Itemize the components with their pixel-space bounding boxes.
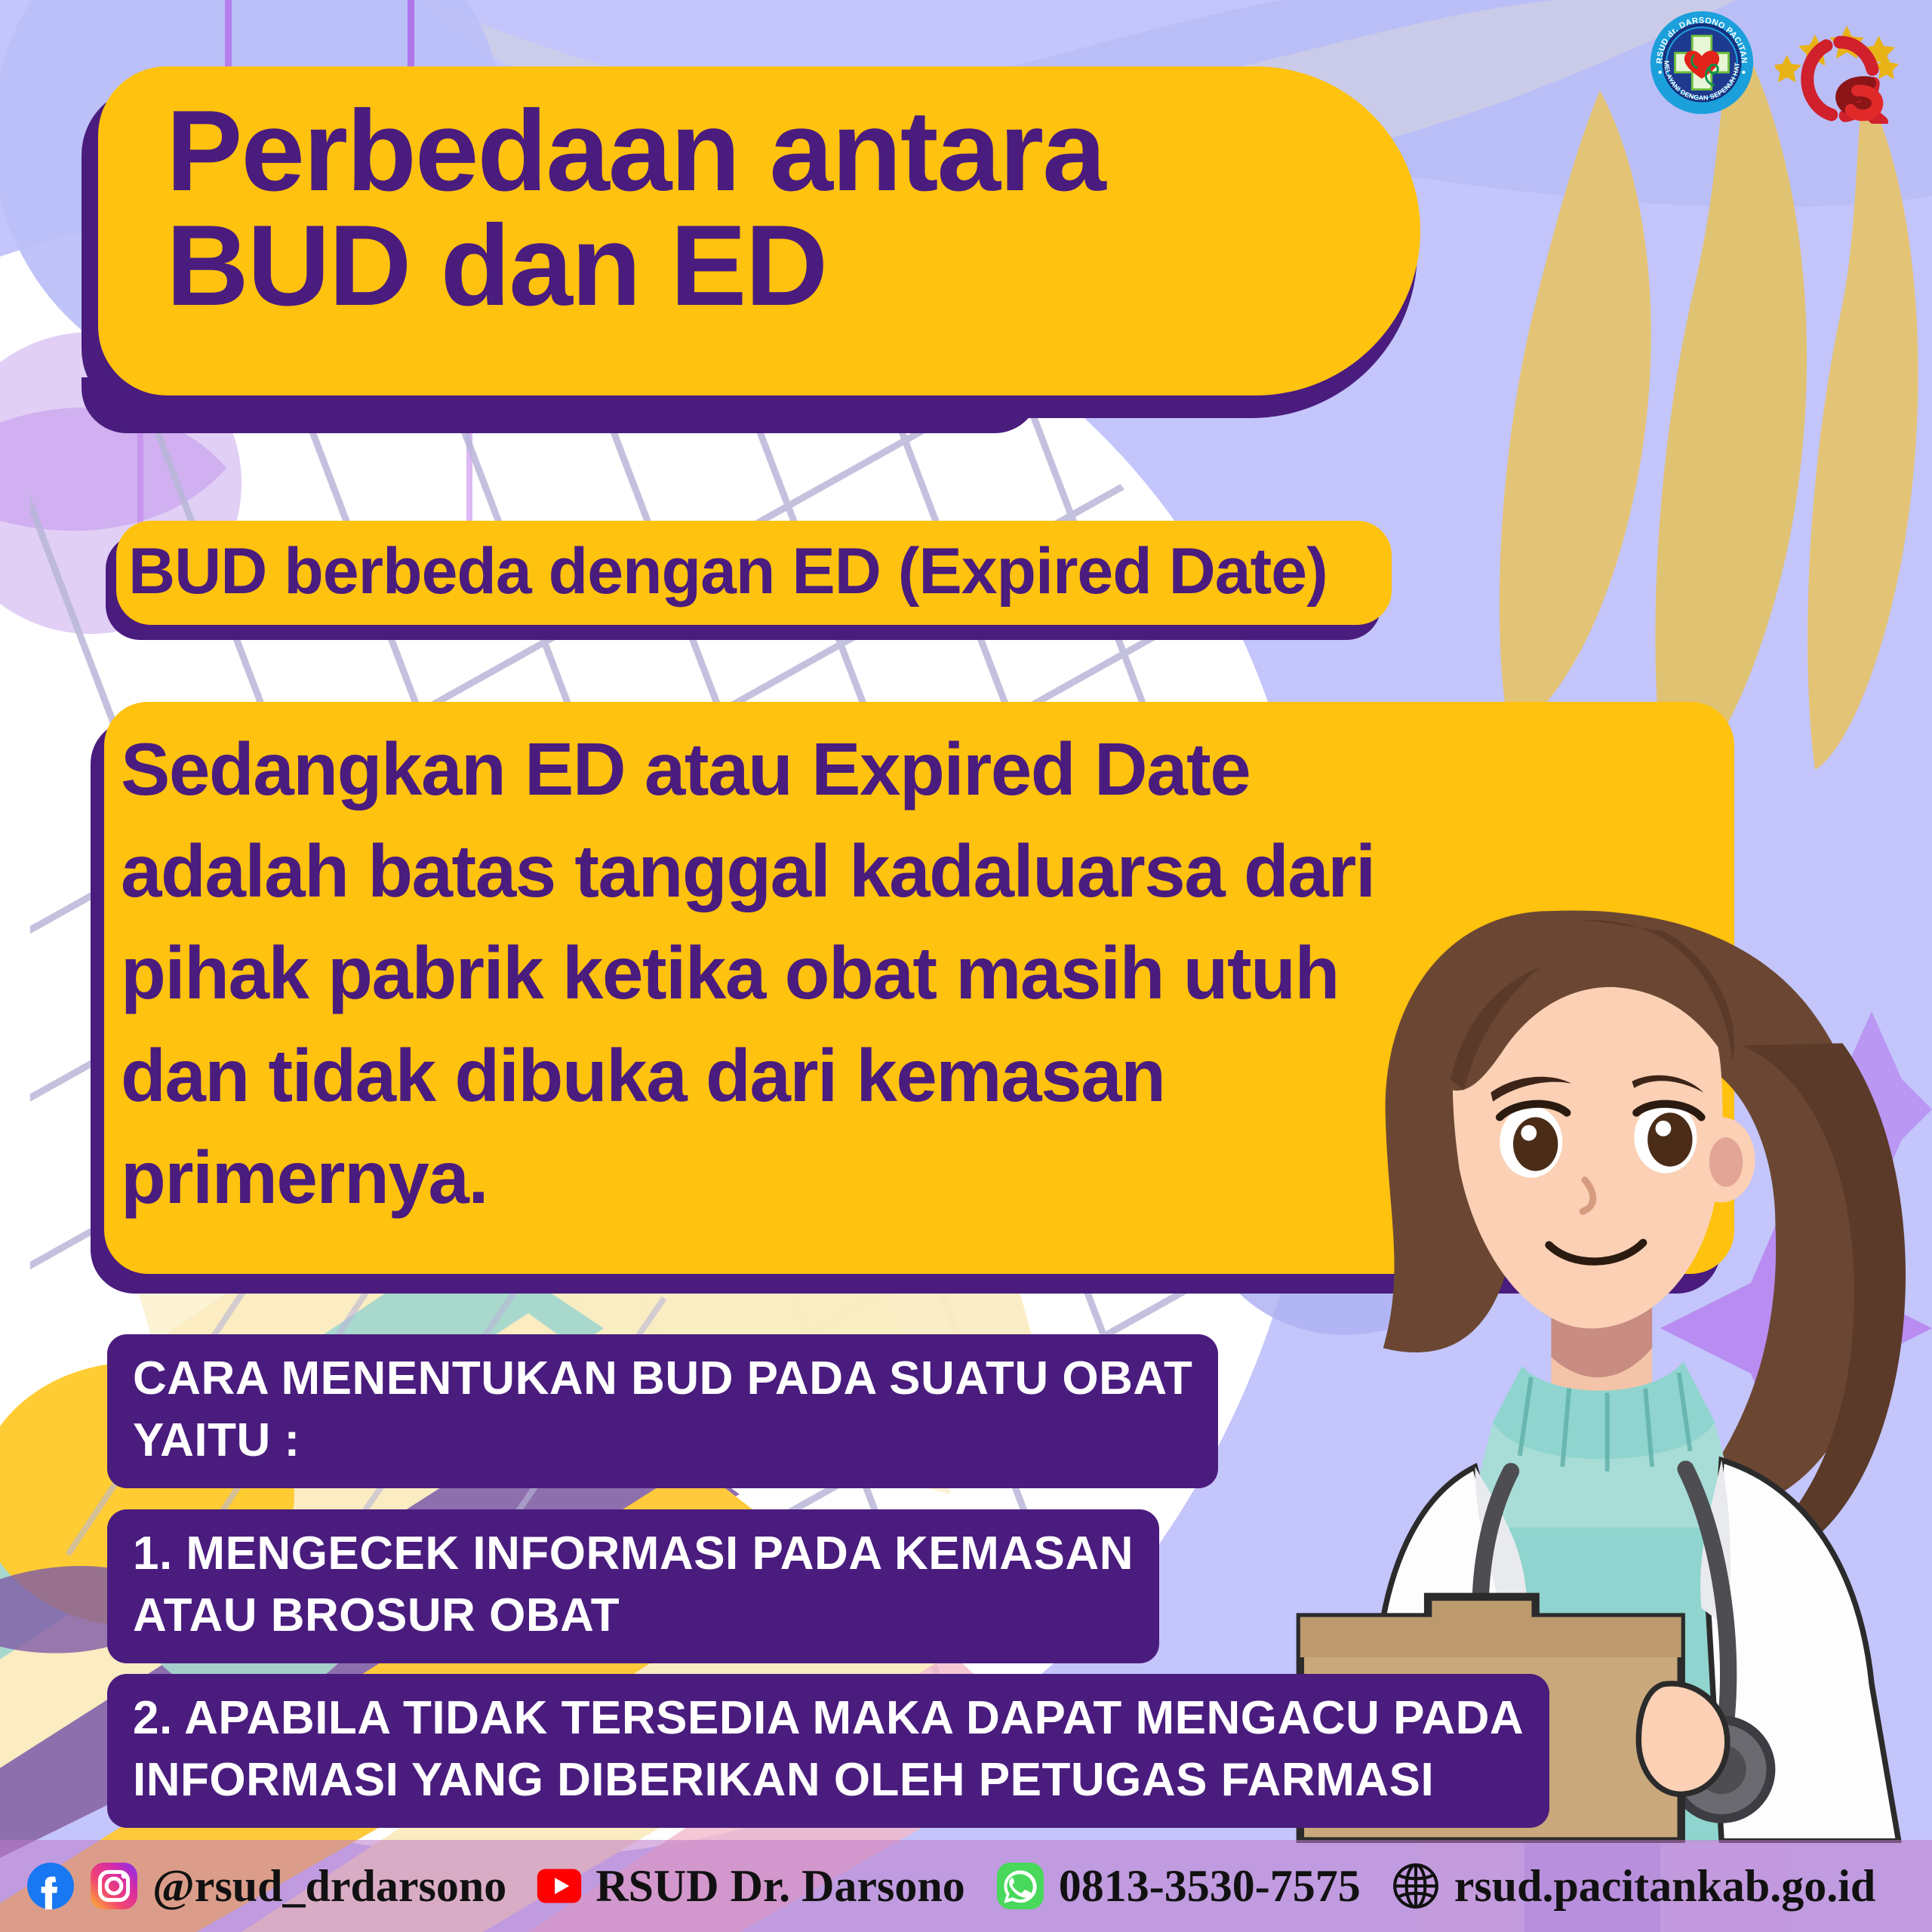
page-title-line-2: BUD dan ED <box>166 208 1389 323</box>
logo-group: RSUD dr. DARSONO PACITAN MELAYANI DENGAN… <box>1648 9 1903 124</box>
step-1-box: 1. MENGECEK INFORMASI PADA KEMASAN ATAU … <box>107 1509 1159 1663</box>
title-card: Perbedaan antara BUD dan ED <box>82 66 1417 414</box>
globe-icon[interactable] <box>1391 1861 1441 1911</box>
subtitle-card: BUD berbeda dengan ED (Expired Date) <box>106 521 1396 634</box>
youtube-group[interactable]: RSUD Dr. Darsono <box>537 1860 965 1912</box>
youtube-icon[interactable] <box>537 1863 582 1909</box>
page-title-line-1: Perbedaan antara <box>166 94 1389 208</box>
step-1-line-1: 1. MENGECEK INFORMASI PADA KEMASAN <box>133 1523 1134 1585</box>
instagram-handle[interactable]: @rsud_drdarsono <box>152 1860 506 1912</box>
steps-intro-line-2: YAITU : <box>133 1410 1192 1472</box>
poster-canvas: RSUD dr. DARSONO PACITAN MELAYANI DENGAN… <box>0 0 1932 1932</box>
whatsapp-icon[interactable] <box>995 1861 1045 1911</box>
page-title: Perbedaan antara BUD dan ED <box>166 94 1389 323</box>
website-url[interactable]: rsud.pacitankab.go.id <box>1454 1860 1876 1912</box>
steps-intro-line-1: CARA MENENTUKAN BUD PADA SUATU OBAT <box>133 1348 1192 1410</box>
steps-intro-box: CARA MENENTUKAN BUD PADA SUATU OBAT YAIT… <box>107 1334 1218 1488</box>
step-2-line-1: 2. APABILA TIDAK TERSEDIA MAKA DAPAT MEN… <box>133 1687 1524 1749</box>
hospital-seal-logo: RSUD dr. DARSONO PACITAN MELAYANI DENGAN… <box>1648 9 1755 116</box>
social-handle-group[interactable]: @rsud_drdarsono <box>26 1860 506 1912</box>
instagram-icon[interactable] <box>89 1861 139 1911</box>
whatsapp-number[interactable]: 0813-3530-7575 <box>1059 1860 1361 1912</box>
whatsapp-group[interactable]: 0813-3530-7575 <box>995 1860 1361 1912</box>
subtitle-text: BUD berbeda dengan ED (Expired Date) <box>128 531 1366 613</box>
facebook-icon[interactable] <box>26 1861 75 1911</box>
step-1-line-2: ATAU BROSUR OBAT <box>133 1585 1134 1647</box>
youtube-channel[interactable]: RSUD Dr. Darsono <box>595 1860 965 1912</box>
step-2-line-2: INFORMASI YANG DIBERIKAN OLEH PETUGAS FA… <box>133 1749 1524 1811</box>
footer-contact-bar: @rsud_drdarsono RSUD Dr. Darsono 0813-35… <box>0 1840 1932 1932</box>
step-2-box: 2. APABILA TIDAK TERSEDIA MAKA DAPAT MEN… <box>107 1674 1549 1828</box>
kars-accreditation-logo <box>1775 9 1903 124</box>
website-group[interactable]: rsud.pacitankab.go.id <box>1391 1860 1876 1912</box>
